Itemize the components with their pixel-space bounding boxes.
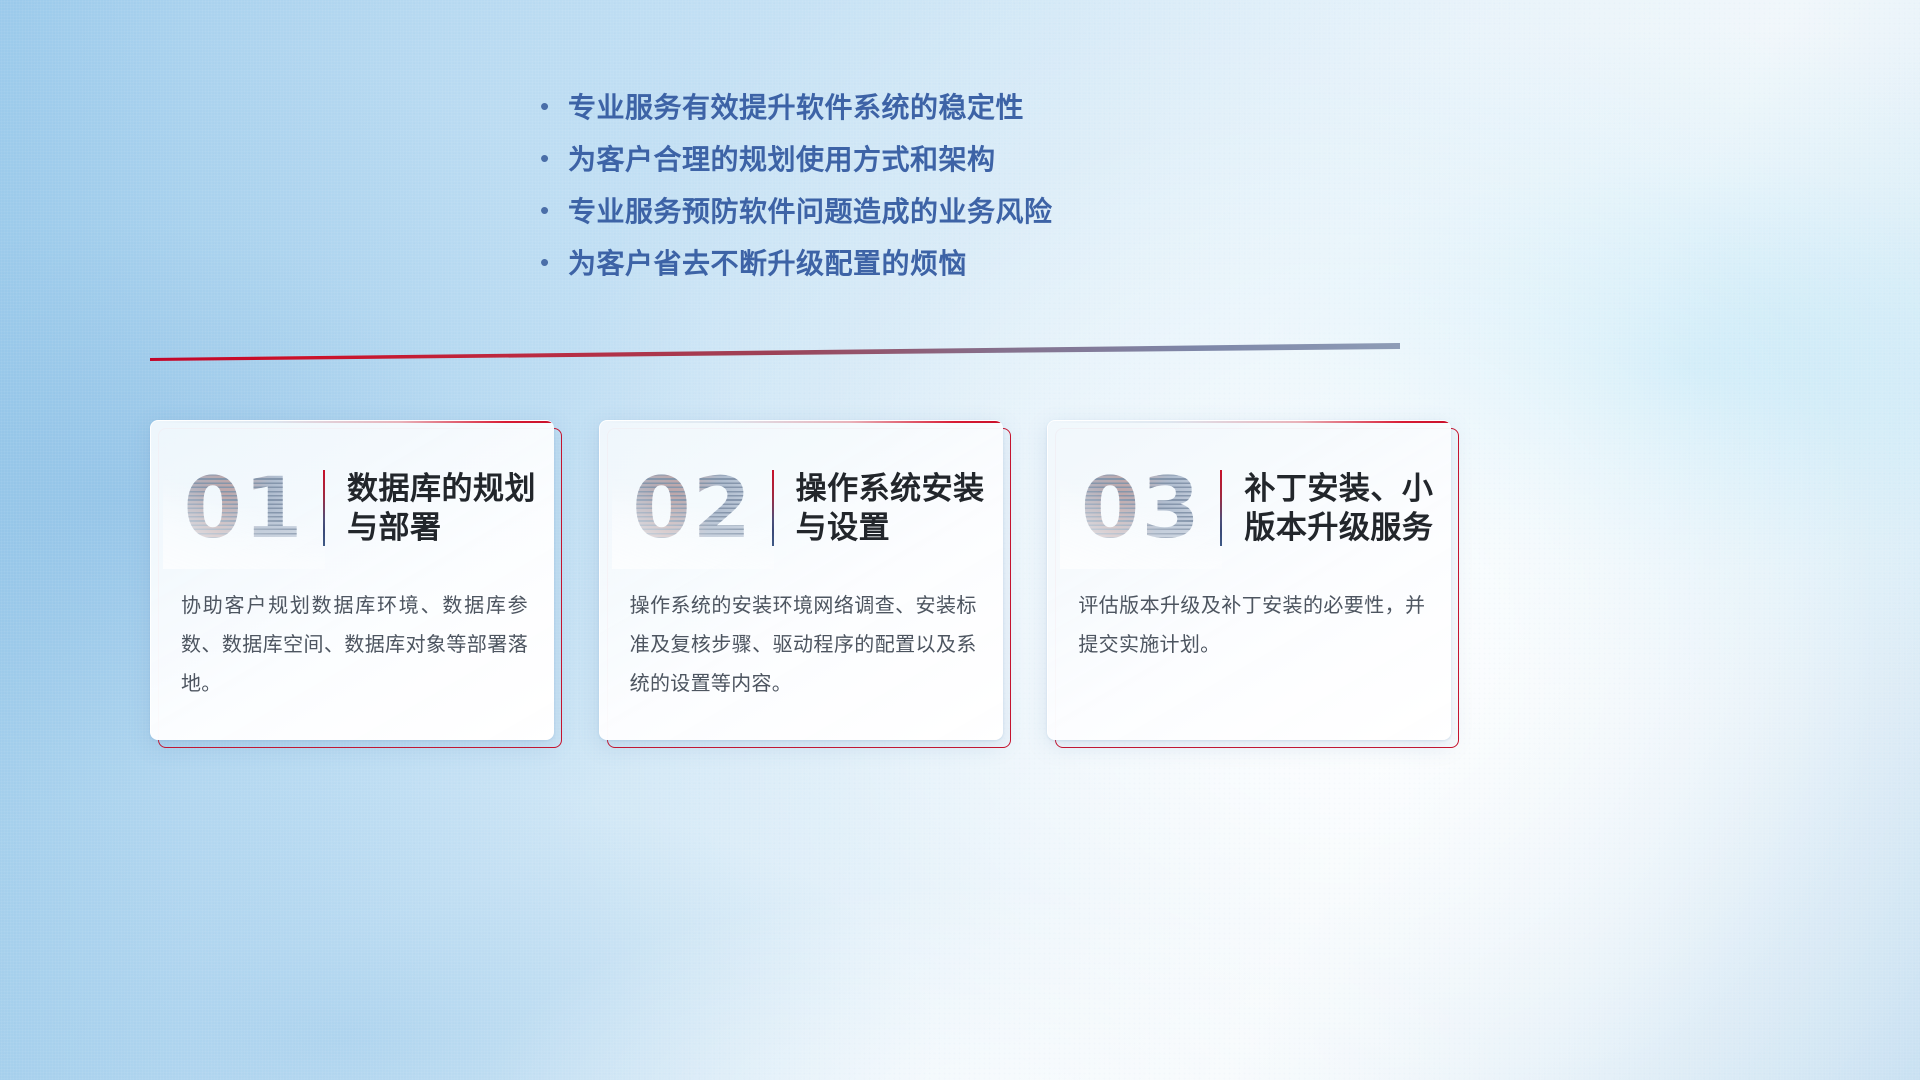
card-surface: 01 数据库的规划与部署 协助客户规划数据库环境、数据库参数、数据库空间、数据库… xyxy=(150,420,554,740)
card-vertical-rule xyxy=(323,470,325,546)
card-number-text: 03 xyxy=(1066,453,1216,563)
card-number-badge: 02 xyxy=(618,453,768,563)
benefits-bullet-list: • 专业服务有效提升软件系统的稳定性 • 为客户合理的规划使用方式和架构 • 专… xyxy=(540,86,1520,294)
card-title: 数据库的规划与部署 xyxy=(347,469,554,547)
card-description: 评估版本升级及补丁安装的必要性，并提交实施计划。 xyxy=(1078,587,1425,665)
card-title: 操作系统安装与设置 xyxy=(796,469,1003,547)
card-header: 01 数据库的规划与部署 xyxy=(151,449,554,567)
bullet-text: 为客户省去不断升级配置的烦恼 xyxy=(568,242,967,282)
slide-canvas: • 专业服务有效提升软件系统的稳定性 • 为客户合理的规划使用方式和架构 • 专… xyxy=(0,0,1920,1080)
service-card-01[interactable]: 01 数据库的规划与部署 协助客户规划数据库环境、数据库参数、数据库空间、数据库… xyxy=(150,420,553,740)
card-top-accent-line xyxy=(1048,421,1451,423)
bullet-dot-icon: • xyxy=(540,145,568,171)
service-card-grid: 01 数据库的规划与部署 协助客户规划数据库环境、数据库参数、数据库空间、数据库… xyxy=(150,420,1450,750)
card-number-text: 02 xyxy=(618,453,768,563)
list-item: • 为客户省去不断升级配置的烦恼 xyxy=(540,242,1520,294)
bullet-text: 专业服务有效提升软件系统的稳定性 xyxy=(568,86,1024,126)
bullet-dot-icon: • xyxy=(540,93,568,119)
bullet-dot-icon: • xyxy=(540,197,568,223)
list-item: • 为客户合理的规划使用方式和架构 xyxy=(540,138,1520,190)
service-card-03[interactable]: 03 补丁安装、小版本升级服务 评估版本升级及补丁安装的必要性，并提交实施计划。 xyxy=(1047,420,1450,740)
card-number-badge: 03 xyxy=(1066,453,1216,563)
card-number-text: 01 xyxy=(169,453,319,563)
card-description: 协助客户规划数据库环境、数据库参数、数据库空间、数据库对象等部署落地。 xyxy=(181,587,528,704)
list-item: • 专业服务有效提升软件系统的稳定性 xyxy=(540,86,1520,138)
card-vertical-rule xyxy=(1220,470,1222,546)
bullet-dot-icon: • xyxy=(540,249,568,275)
card-top-accent-line xyxy=(151,421,554,423)
card-header: 03 补丁安装、小版本升级服务 xyxy=(1048,449,1451,567)
card-vertical-rule xyxy=(772,470,774,546)
divider-shape-icon xyxy=(150,340,1400,366)
card-header: 02 操作系统安装与设置 xyxy=(600,449,1003,567)
section-divider xyxy=(150,340,1400,366)
list-item: • 专业服务预防软件问题造成的业务风险 xyxy=(540,190,1520,242)
card-top-accent-line xyxy=(600,421,1003,423)
card-title: 补丁安装、小版本升级服务 xyxy=(1244,469,1451,547)
card-surface: 03 补丁安装、小版本升级服务 评估版本升级及补丁安装的必要性，并提交实施计划。 xyxy=(1047,420,1451,740)
bullet-text: 为客户合理的规划使用方式和架构 xyxy=(568,138,996,178)
card-number-badge: 01 xyxy=(169,453,319,563)
bullet-text: 专业服务预防软件问题造成的业务风险 xyxy=(568,190,1053,230)
card-description: 操作系统的安装环境网络调查、安装标准及复核步骤、驱动程序的配置以及系统的设置等内… xyxy=(630,587,977,704)
service-card-02[interactable]: 02 操作系统安装与设置 操作系统的安装环境网络调查、安装标准及复核步骤、驱动程… xyxy=(599,420,1002,740)
card-surface: 02 操作系统安装与设置 操作系统的安装环境网络调查、安装标准及复核步骤、驱动程… xyxy=(599,420,1003,740)
